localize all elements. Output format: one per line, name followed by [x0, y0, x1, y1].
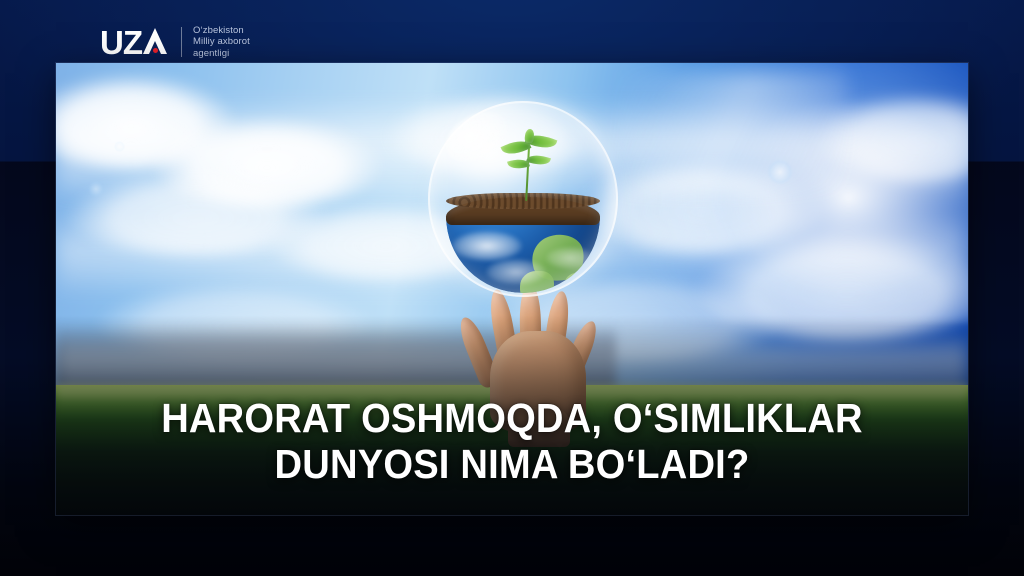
uza-letter-a-icon: [143, 28, 168, 54]
earth-hemisphere: [446, 217, 600, 293]
continent-south: [564, 273, 590, 293]
brand-divider: [181, 27, 182, 57]
earth-ocean: [446, 217, 600, 293]
uza-wordmark: U Z: [100, 26, 168, 59]
earth-cloud-2: [486, 259, 546, 285]
news-cover-card: U Z O‘zbekiston Milliy axborot agentligi: [0, 0, 1024, 576]
uza-letter-z: Z: [123, 26, 142, 59]
glass-globe: [428, 101, 618, 297]
lens-flare-1: [767, 159, 793, 185]
plant-sprout: [514, 129, 544, 201]
uza-letter-u: U: [100, 26, 123, 59]
earth-cloud-1: [452, 231, 522, 261]
cover-photo: HARORAT OSHMOQDA, O‘SIMLIKLAR DUNYOSI NI…: [56, 63, 968, 515]
brand-tagline: O‘zbekiston Milliy axborot agentligi: [193, 25, 250, 59]
headline: HARORAT OSHMOQDA, O‘SIMLIKLAR DUNYOSI NI…: [56, 395, 968, 487]
uza-a-red-dot-icon: [153, 48, 158, 53]
earth-cloud-3: [546, 247, 594, 269]
uza-logo[interactable]: U Z O‘zbekiston Milliy axborot agentligi: [100, 22, 250, 62]
sun-ray: [618, 73, 848, 193]
headline-line-2: DUNYOSI NIMA BO‘LADI?: [140, 441, 884, 487]
headline-line-1: HARORAT OSHMOQDA, O‘SIMLIKLAR: [140, 395, 884, 441]
